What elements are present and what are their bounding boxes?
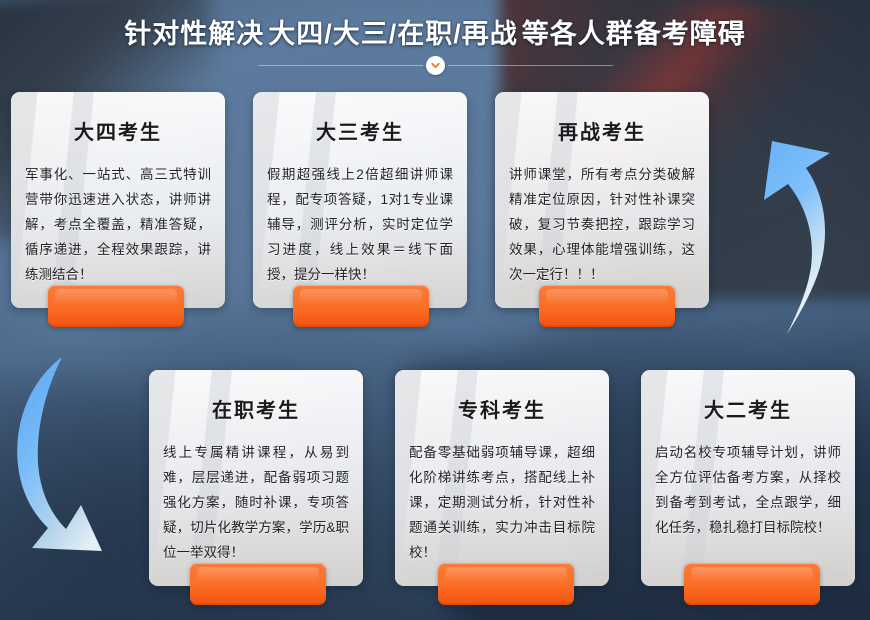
card-working-professional[interactable]: 在职考生 线上专属精讲课程，从易到难，层层递进，配备弱项习题强化方案，随时补课，…	[149, 370, 363, 586]
cta-button-senior-year-four[interactable]	[48, 285, 184, 327]
page-title-suffix: 等各人群备考障碍	[522, 19, 746, 49]
card-body: 军事化、一站式、高三式特训营带你迅速进入状态，讲师讲解，考点全覆盖，精准答疑，循…	[25, 162, 211, 287]
promo-banner: 针对性解决大四/大三/在职/再战等各人群备考障碍	[0, 0, 870, 620]
card-title: 大二考生	[641, 394, 855, 423]
card-title: 在职考生	[149, 394, 363, 423]
page-title-groups: 大四/大三/在职/再战	[268, 19, 518, 49]
card-body: 假期超强线上2倍超细讲师课程，配专项答疑，1对1专业课辅导，测评分析，实时定位学…	[267, 162, 453, 287]
card-title: 大三考生	[253, 116, 467, 145]
card-title: 再战考生	[495, 116, 709, 145]
card-body: 配备零基础弱项辅导课，超细化阶梯讲练考点，搭配线上补课，定期测试分析，针对性补题…	[409, 440, 595, 565]
card-body: 讲师课堂，所有考点分类破解精准定位原因，针对性补课突破，复习节奏把控，跟踪学习效…	[509, 162, 695, 287]
divider-rule-left	[258, 65, 423, 66]
card-year-three[interactable]: 大三考生 假期超强线上2倍超细讲师课程，配专项答疑，1对1专业课辅导，测评分析，…	[253, 92, 467, 308]
chevron-down-icon	[426, 56, 445, 75]
cta-button-retaker[interactable]	[539, 285, 675, 327]
card-body: 启动名校专项辅导计划，讲师全方位评估备考方案，从择校到备考到考试，全点跟学，细化…	[655, 440, 841, 540]
card-retaker[interactable]: 再战考生 讲师课堂，所有考点分类破解精准定位原因，针对性补课突破，复习节奏把控，…	[495, 92, 709, 308]
cta-button-year-two[interactable]	[684, 563, 820, 605]
card-junior-college[interactable]: 专科考生 配备零基础弱项辅导课，超细化阶梯讲练考点，搭配线上补课，定期测试分析，…	[395, 370, 609, 586]
card-senior-year-four[interactable]: 大四考生 军事化、一站式、高三式特训营带你迅速进入状态，讲师讲解，考点全覆盖，精…	[11, 92, 225, 308]
card-title: 专科考生	[395, 394, 609, 423]
cta-button-working-professional[interactable]	[190, 563, 326, 605]
card-year-two[interactable]: 大二考生 启动名校专项辅导计划，讲师全方位评估备考方案，从择校到备考到考试，全点…	[641, 370, 855, 586]
page-title-prefix: 针对性解决	[124, 19, 264, 49]
headline-divider	[0, 54, 870, 76]
divider-rule-right	[448, 65, 613, 66]
page-title: 针对性解决大四/大三/在职/再战等各人群备考障碍	[0, 12, 870, 51]
cta-button-junior-college[interactable]	[438, 563, 574, 605]
cta-button-year-three[interactable]	[293, 285, 429, 327]
card-body: 线上专属精讲课程，从易到难，层层递进，配备弱项习题强化方案，随时补课，专项答疑，…	[163, 440, 349, 565]
card-title: 大四考生	[11, 116, 225, 145]
